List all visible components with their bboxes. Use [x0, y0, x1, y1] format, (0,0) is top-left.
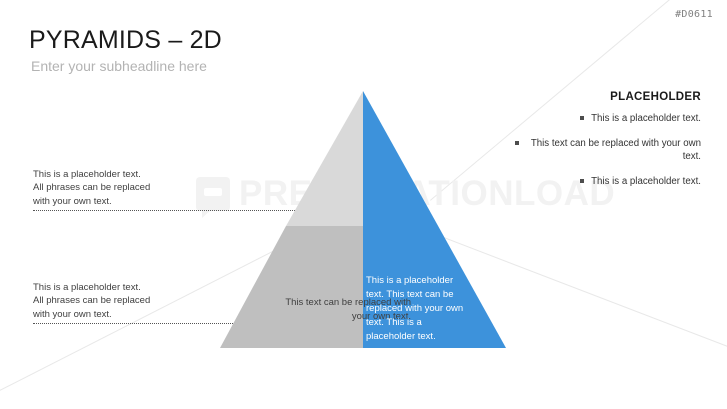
list-item[interactable]: This is a placeholder text. [515, 175, 701, 189]
list-item[interactable]: This text can be replaced with your own … [515, 137, 701, 164]
pyramid-diagram: This text can be replaced with your own … [216, 88, 510, 350]
page-title: PYRAMIDS – 2D [29, 26, 222, 55]
square-bullet-icon [580, 116, 584, 120]
list-item[interactable]: This is a placeholder text. [515, 112, 701, 126]
square-bullet-icon [580, 179, 584, 183]
document-code: #D0611 [675, 9, 713, 20]
slide-canvas: PRESENTATIONLOAD #D0611 PYRAMIDS – 2D En… [0, 0, 727, 409]
bullet-text-2: This text can be replaced with your own … [526, 137, 701, 164]
pyramid-segment-left-top[interactable] [286, 91, 363, 226]
right-block-heading: PLACEHOLDER [515, 91, 701, 103]
bullet-text-1: This is a placeholder text. [591, 112, 701, 126]
right-placeholder-block: PLACEHOLDER This is a placeholder text. … [515, 91, 701, 199]
pyramid-segment-left-bottom[interactable] [220, 226, 363, 348]
subheadline-placeholder[interactable]: Enter your subheadline here [31, 58, 207, 74]
square-bullet-icon [515, 141, 519, 145]
bullet-text-3: This is a placeholder text. [591, 175, 701, 189]
pyramid-right-text[interactable]: This is a placeholder text. This text ca… [366, 274, 469, 344]
